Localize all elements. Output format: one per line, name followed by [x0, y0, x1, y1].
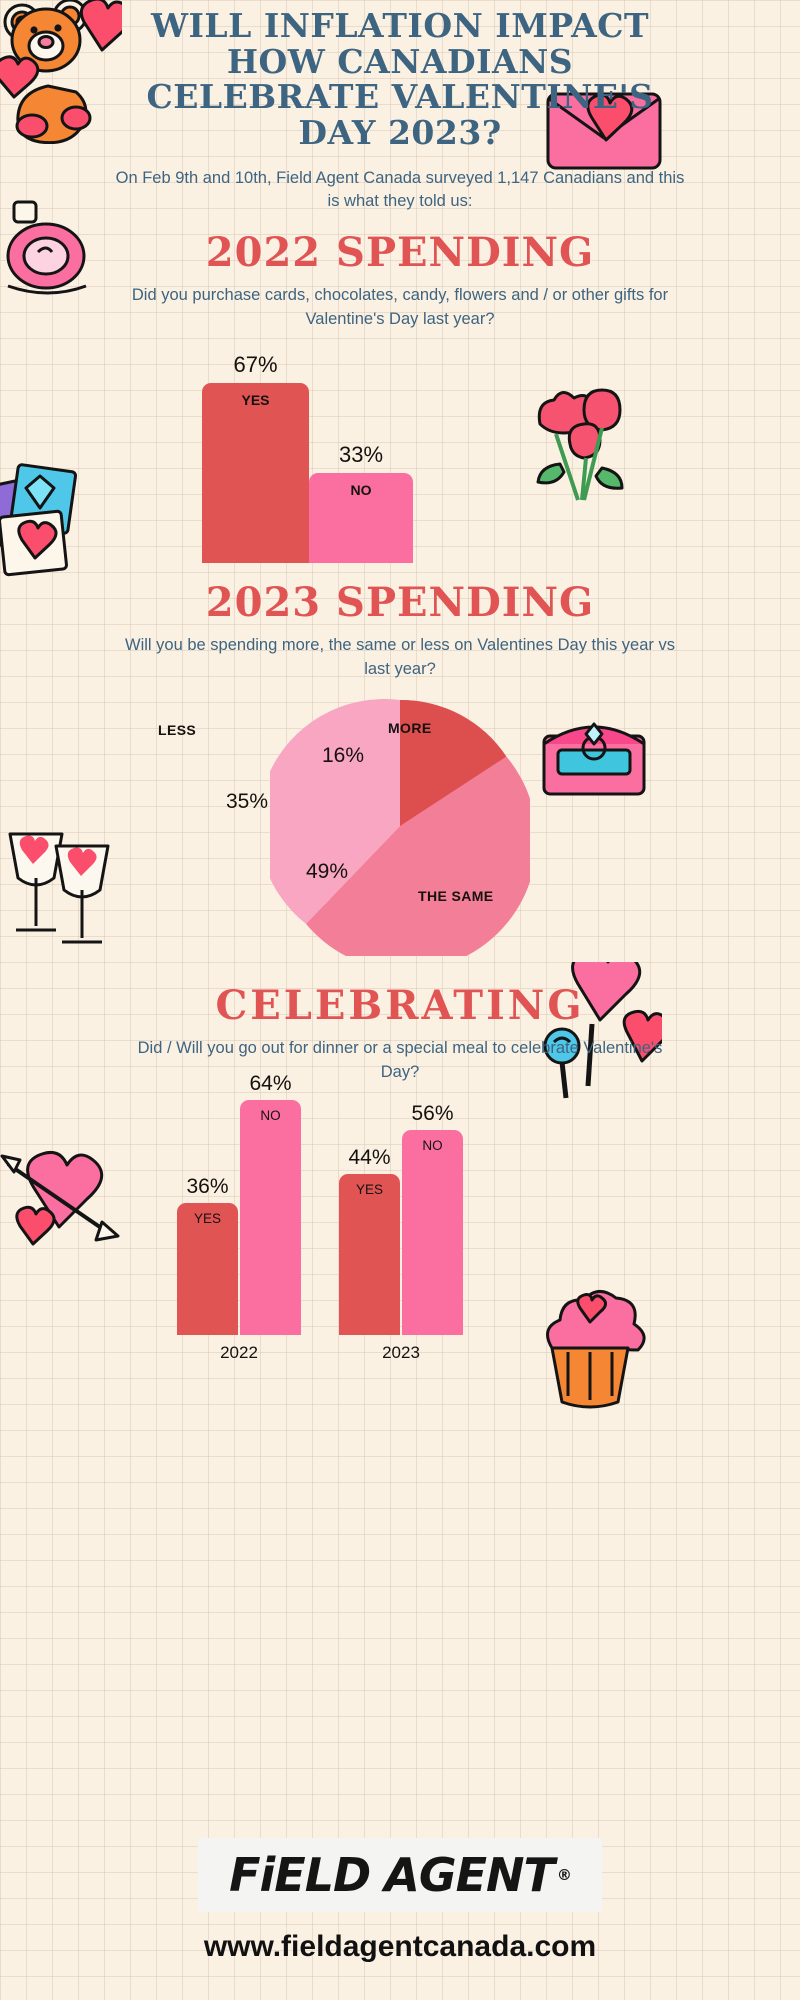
bar-celebrating-2022-no-label: NO [240, 1108, 301, 1123]
bar-celebrating-2022-no-value: 64% [240, 1072, 301, 1100]
field-agent-logo: FiELD AGENT ® [198, 1838, 602, 1912]
chart-2023-spending: 16% 49% 35% MORE THE SAME LESS [0, 692, 800, 960]
website-url[interactable]: www.fieldagentcanada.com [0, 1930, 800, 1964]
bar-celebrating-2022-no: 64% NO [240, 1100, 301, 1335]
bar-2022-yes-value: 67% [202, 352, 309, 383]
logo-agent: AGENT [384, 1848, 554, 1902]
question-2022-spending: Did you purchase cards, chocolates, cand… [0, 276, 800, 332]
bar-celebrating-2023-no-value: 56% [402, 1102, 463, 1130]
pie-label-more: MORE [388, 720, 432, 736]
pie-value-less: 35% [226, 790, 268, 814]
pie-label-less: LESS [158, 722, 196, 738]
x-tick-2023: 2023 [339, 1343, 463, 1363]
bar-celebrating-2022-yes-value: 36% [177, 1175, 238, 1203]
bar-2022-no-value: 33% [309, 442, 413, 473]
bar-celebrating-2023-no-label: NO [402, 1138, 463, 1153]
pie-value-the-same: 49% [306, 860, 348, 884]
section-title-celebrating: CELEBRATING [0, 982, 800, 1029]
bar-celebrating-2023-no: 56% NO [402, 1130, 463, 1335]
chart-2022-spending: 67% YES 33% NO [0, 338, 800, 563]
bar-celebrating-2022-yes-label: YES [177, 1211, 238, 1226]
question-2023-spending: Will you be spending more, the same or l… [0, 626, 800, 682]
bar-celebrating-2023-yes: 44% YES [339, 1174, 400, 1335]
intro-text: On Feb 9th and 10th, Field Agent Canada … [0, 151, 800, 214]
bar-2022-yes-label: YES [202, 392, 309, 408]
section-title-2023-spending: 2023 SPENDING [0, 579, 800, 626]
bar-2022-yes: 67% YES [202, 383, 309, 563]
bar-2022-no-label: NO [309, 482, 413, 498]
question-celebrating: Did / Will you go out for dinner or a sp… [0, 1029, 800, 1085]
pie-value-more: 16% [322, 744, 364, 768]
pie-label-the-same: THE SAME [418, 888, 494, 904]
bar-celebrating-2023-yes-value: 44% [339, 1146, 400, 1174]
bar-celebrating-2022-yes: 36% YES [177, 1203, 238, 1335]
chart-celebrating: 36% YES 64% NO 2022 44% YES 56% NO 2023 [0, 1093, 800, 1363]
section-title-2022-spending: 2022 SPENDING [0, 229, 800, 276]
x-tick-2022: 2022 [177, 1343, 301, 1363]
bar-2022-no: 33% NO [309, 473, 413, 563]
logo-field: FiELD [229, 1848, 370, 1902]
logo-text: FiELD AGENT ® [229, 1848, 571, 1902]
page-title: WILL INFLATION IMPACT HOW CANADIANS CELE… [0, 0, 800, 151]
bar-celebrating-2023-yes-label: YES [339, 1182, 400, 1197]
registered-trademark-icon: ® [557, 1866, 571, 1884]
